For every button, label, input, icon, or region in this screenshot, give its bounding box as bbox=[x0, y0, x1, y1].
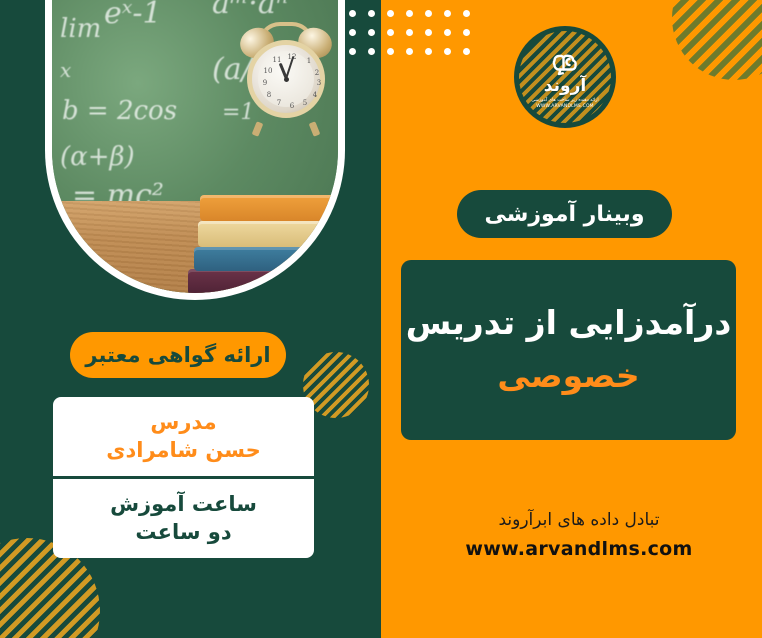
footer-website[interactable]: www.arvandlms.com bbox=[401, 538, 757, 560]
duration-value: دو ساعت bbox=[135, 519, 231, 546]
chalk-formula: x bbox=[60, 58, 71, 82]
grid-dot bbox=[425, 29, 432, 36]
grid-dot bbox=[349, 29, 356, 36]
grid-dot bbox=[463, 29, 470, 36]
grid-dot bbox=[406, 48, 413, 55]
grid-dot bbox=[349, 10, 356, 17]
hero-photo-image: lim eˣ-1 x aᵐ·aⁿ (a/b)ⁿ b = 2cos (α+β) =… bbox=[52, 0, 338, 293]
grid-dot bbox=[349, 48, 356, 55]
grid-dot bbox=[444, 10, 451, 17]
clock-center-pin bbox=[284, 77, 289, 82]
footer-tagline: تبادل داده های ابرآروند bbox=[401, 508, 757, 534]
grid-dot bbox=[444, 29, 451, 36]
grid-dot bbox=[387, 48, 394, 55]
clock-face: 12 1 2 3 4 5 6 7 8 9 10 11 bbox=[247, 40, 325, 118]
duration-section: ساعت آموزش دو ساعت bbox=[53, 479, 314, 558]
hero-photo: lim eˣ-1 x aᵐ·aⁿ (a/b)ⁿ b = 2cos (α+β) =… bbox=[45, 0, 345, 300]
grid-dot bbox=[463, 48, 470, 55]
book-blue bbox=[194, 247, 338, 271]
book-purple bbox=[188, 269, 338, 293]
instructor-label: مدرس bbox=[150, 409, 216, 436]
grid-dot bbox=[444, 48, 451, 55]
clock-numeral: 2 bbox=[311, 69, 323, 77]
logo-tagline: ارائه دهنده زیر ساخت های آموزشی bbox=[531, 98, 598, 103]
certificate-badge: ارائه گواهی معتبر bbox=[70, 332, 286, 378]
chalk-formula: aᵐ·aⁿ bbox=[212, 0, 288, 21]
logo-wordmark: آروند bbox=[544, 78, 586, 95]
instructor-name: حسن شامرادی bbox=[106, 437, 261, 464]
grid-dot bbox=[425, 48, 432, 55]
clock-dial: 12 1 2 3 4 5 6 7 8 9 10 11 bbox=[258, 51, 314, 107]
footer: تبادل داده های ابرآروند www.arvandlms.co… bbox=[401, 508, 757, 560]
grid-dot bbox=[406, 29, 413, 36]
alarm-clock-icon: 12 1 2 3 4 5 6 7 8 9 10 11 bbox=[240, 22, 332, 130]
grid-dot bbox=[387, 10, 394, 17]
clock-numeral: 1 bbox=[303, 57, 315, 65]
book-orange bbox=[200, 195, 338, 221]
grid-dot bbox=[425, 10, 432, 17]
page-title-line-2: خصوصی bbox=[497, 354, 639, 399]
clock-numeral: 6 bbox=[286, 102, 298, 110]
striped-circle-decoration-top-right bbox=[672, 0, 762, 80]
clock-numeral: 4 bbox=[309, 91, 321, 99]
book-cream bbox=[198, 221, 338, 247]
duration-label: ساعت آموزش bbox=[110, 491, 257, 518]
clock-numeral: 10 bbox=[262, 67, 274, 75]
grid-dot bbox=[368, 48, 375, 55]
instructor-section: مدرس حسن شامرادی bbox=[53, 397, 314, 479]
webinar-badge: وبینار آموزشی bbox=[457, 190, 672, 238]
chalk-formula: lim bbox=[60, 14, 101, 44]
grid-dot bbox=[368, 29, 375, 36]
brand-logo[interactable]: آروند ارائه دهنده زیر ساخت های آموزشی WW… bbox=[514, 26, 616, 128]
grid-dot bbox=[463, 10, 470, 17]
clock-numeral: 5 bbox=[299, 99, 311, 107]
clock-numeral: 7 bbox=[273, 99, 285, 107]
grid-dot bbox=[387, 29, 394, 36]
page-title-line-1: درآمدزایی از تدریس bbox=[406, 301, 732, 346]
logo-url: WWW.ARVANDLMS.COM bbox=[536, 104, 594, 109]
clock-numeral: 9 bbox=[259, 79, 271, 87]
grid-dot bbox=[406, 10, 413, 17]
info-card: مدرس حسن شامرادی ساعت آموزش دو ساعت bbox=[53, 397, 314, 558]
chalk-formula: (α+β) bbox=[60, 142, 135, 172]
title-box: درآمدزایی از تدریس خصوصی bbox=[401, 260, 736, 440]
chalk-formula: eˣ-1 bbox=[104, 0, 162, 31]
clock-numeral: 8 bbox=[263, 91, 275, 99]
brain-icon bbox=[542, 50, 588, 80]
grid-dot bbox=[368, 10, 375, 17]
dot-grid-decoration bbox=[349, 10, 482, 67]
chalk-formula: b = 2cos bbox=[62, 96, 177, 126]
poster-canvas: lim eˣ-1 x aᵐ·aⁿ (a/b)ⁿ b = 2cos (α+β) =… bbox=[0, 0, 762, 638]
clock-numeral: 3 bbox=[313, 79, 325, 87]
